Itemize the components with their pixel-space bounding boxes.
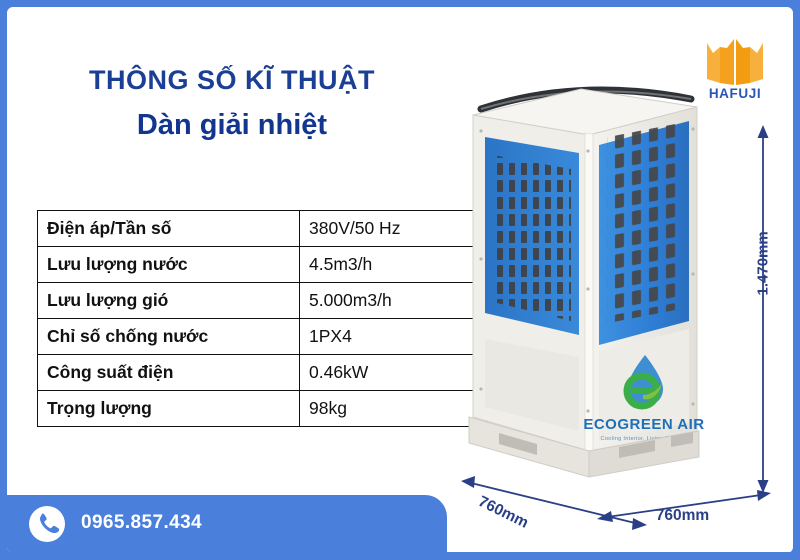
- phone-icon: [29, 506, 65, 542]
- contact-bar[interactable]: 0965.857.434: [7, 495, 447, 553]
- page-title: THÔNG SỐ KĨ THUẬT: [37, 65, 427, 96]
- spec-label: Trọng lượng: [38, 391, 300, 427]
- spec-label: Chỉ số chống nước: [38, 319, 300, 355]
- spec-label: Lưu lượng nước: [38, 247, 300, 283]
- table-row: Lưu lượng nước 4.5m3/h: [38, 247, 488, 283]
- width-label: 760mm: [595, 507, 770, 525]
- product-image: ECOGREEN AIR Cooling Interior, Living Gr…: [459, 59, 759, 499]
- table-row: Điện áp/Tần số 380V/50 Hz: [38, 211, 488, 247]
- unit-brand-text: ECOGREEN AIR: [583, 416, 704, 433]
- bottom-strip: [0, 552, 800, 560]
- dimension-width: 760mm: [595, 487, 793, 537]
- infographic-page: THÔNG SỐ KĨ THUẬT Dàn giải nhiệt HAFUJI …: [0, 0, 800, 560]
- dimension-height: 1.470mm: [751, 125, 775, 493]
- table-row: Chỉ số chống nước 1PX4: [38, 319, 488, 355]
- height-arrow-icon: [751, 125, 775, 493]
- height-label: 1.470mm: [755, 240, 772, 296]
- table-row: Trọng lượng 98kg: [38, 391, 488, 427]
- spec-label: Công suất điện: [38, 355, 300, 391]
- spec-label: Điện áp/Tần số: [38, 211, 300, 247]
- spec-label: Lưu lượng gió: [38, 283, 300, 319]
- phone-number: 0965.857.434: [81, 512, 202, 534]
- page-subtitle: Dàn giải nhiệt: [37, 109, 427, 142]
- content-card: THÔNG SỐ KĨ THUẬT Dàn giải nhiệt HAFUJI …: [7, 7, 793, 553]
- spec-table: Điện áp/Tần số 380V/50 Hz Lưu lượng nước…: [37, 210, 488, 427]
- table-row: Lưu lượng gió 5.000m3/h: [38, 283, 488, 319]
- table-row: Công suất điện 0.46kW: [38, 355, 488, 391]
